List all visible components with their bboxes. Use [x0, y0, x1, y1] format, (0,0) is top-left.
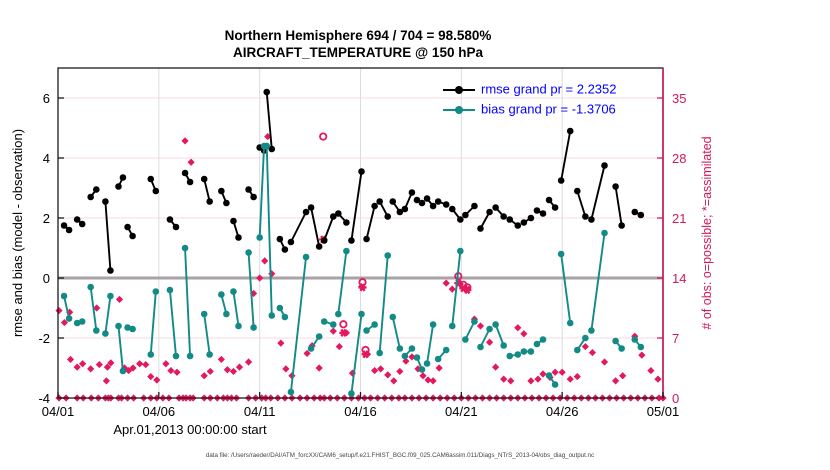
data-point: [268, 312, 275, 319]
x-ticklabel: 04/01: [42, 404, 75, 419]
data-point: [303, 254, 310, 261]
plot-title-line1: Northern Hemisphere 694 / 704 = 98.580%: [225, 28, 492, 43]
data-point: [308, 345, 315, 352]
data-point: [567, 128, 574, 135]
footer-datafile: data file: /Users/raeder/DAI/ATM_forcXX/…: [206, 452, 594, 459]
data-point: [546, 197, 553, 204]
data-point: [330, 321, 337, 328]
data-point: [567, 320, 574, 327]
data-point: [384, 213, 391, 220]
data-point: [256, 234, 263, 241]
data-point: [343, 219, 350, 226]
x-ticklabel: 04/11: [244, 404, 276, 419]
data-point: [173, 353, 180, 360]
data-point: [129, 326, 136, 333]
x-ticklabel: 04/26: [546, 404, 579, 419]
data-point: [471, 318, 478, 325]
legend-label: rmse grand pr = 2.2352: [481, 81, 617, 96]
data-point: [402, 353, 409, 360]
data-point: [129, 233, 136, 240]
data-point: [515, 222, 522, 229]
data-point: [87, 194, 94, 201]
data-point: [173, 224, 180, 231]
data-point: [316, 333, 323, 340]
x-axis-label: Apr.01,2013 00:00:00 start: [113, 422, 267, 437]
data-point: [153, 188, 160, 195]
data-point: [424, 360, 431, 367]
data-point: [409, 189, 416, 196]
data-point: [235, 234, 242, 241]
data-point: [443, 201, 450, 208]
data-point: [230, 218, 237, 225]
data-point: [435, 356, 442, 363]
data-point: [540, 210, 547, 217]
data-point: [230, 288, 237, 295]
data-point: [588, 216, 595, 223]
data-point: [534, 207, 541, 214]
data-point: [631, 209, 638, 216]
data-point: [462, 212, 469, 219]
data-point: [500, 342, 507, 349]
data-point: [471, 203, 478, 210]
data-point: [376, 350, 383, 357]
data-point: [187, 353, 194, 360]
data-point: [223, 200, 230, 207]
data-point: [397, 345, 404, 352]
data-point: [371, 321, 378, 328]
data-point: [506, 353, 513, 360]
data-point: [250, 194, 257, 201]
y-ticklabel-left: 6: [43, 91, 50, 106]
data-point: [277, 236, 284, 243]
data-point: [419, 200, 426, 207]
data-point: [430, 321, 437, 328]
data-point: [402, 206, 409, 213]
data-point: [358, 168, 365, 175]
data-point: [288, 389, 295, 396]
y-ticklabel-right: 28: [672, 151, 686, 166]
data-point: [263, 89, 270, 96]
data-point: [182, 170, 189, 177]
data-point: [618, 222, 625, 229]
data-point: [457, 216, 464, 223]
data-point: [245, 186, 252, 193]
data-point: [120, 368, 127, 375]
data-point: [61, 293, 68, 300]
data-point: [449, 323, 456, 330]
data-point: [348, 237, 355, 244]
data-point: [477, 225, 484, 232]
data-point: [419, 366, 426, 373]
data-point: [335, 210, 342, 217]
data-point: [223, 311, 230, 318]
y-ticklabel-right: 14: [672, 271, 686, 286]
data-point: [93, 327, 100, 334]
x-ticklabel: 05/01: [647, 404, 680, 419]
y-ticklabel-right: 21: [672, 211, 686, 226]
data-point: [321, 318, 328, 325]
data-point: [528, 348, 535, 355]
data-point: [588, 327, 595, 334]
data-point: [492, 204, 499, 211]
data-point: [574, 347, 581, 354]
y-ticklabel-left: 4: [43, 151, 50, 166]
data-point: [384, 252, 391, 259]
data-point: [376, 198, 383, 205]
data-point: [552, 204, 559, 211]
data-point: [206, 351, 213, 358]
data-point: [124, 224, 131, 231]
data-point: [182, 245, 189, 252]
data-point: [66, 227, 73, 234]
data-point: [618, 345, 625, 352]
data-point: [115, 183, 122, 190]
data-point: [87, 284, 94, 291]
data-point: [546, 372, 553, 379]
data-point: [107, 293, 114, 300]
data-point: [308, 204, 315, 211]
data-point: [201, 311, 208, 318]
y-ticklabel-left: 2: [43, 211, 50, 226]
data-point: [506, 216, 513, 223]
data-point: [631, 336, 638, 343]
data-point: [500, 213, 507, 220]
data-point: [167, 216, 174, 223]
data-point: [282, 314, 289, 321]
data-point: [250, 324, 257, 331]
y-ticklabel-left: 0: [43, 271, 50, 286]
data-point: [515, 351, 522, 358]
data-point: [79, 318, 86, 325]
data-point: [462, 336, 469, 343]
data-point: [534, 341, 541, 348]
data-point: [582, 335, 589, 342]
data-point: [167, 287, 174, 294]
data-point: [492, 321, 499, 328]
data-point: [102, 330, 109, 337]
data-point: [282, 246, 289, 253]
data-point: [612, 338, 619, 345]
y-ticklabel-right: 35: [672, 91, 686, 106]
data-point: [245, 249, 252, 256]
data-point: [638, 212, 645, 219]
data-point: [218, 188, 225, 195]
x-ticklabel: 04/16: [344, 404, 377, 419]
data-point: [321, 237, 328, 244]
data-point: [424, 195, 431, 202]
data-point: [277, 305, 284, 312]
data-point: [115, 323, 122, 330]
data-point: [601, 162, 608, 169]
data-point: [343, 248, 350, 255]
data-point: [552, 381, 559, 388]
data-point: [102, 198, 109, 205]
data-point: [61, 222, 68, 229]
data-point: [363, 236, 370, 243]
data-point: [153, 288, 160, 295]
data-point: [601, 230, 608, 237]
data-point: [435, 198, 442, 205]
data-point: [348, 390, 355, 397]
data-point: [316, 243, 323, 250]
data-point: [363, 327, 370, 334]
y-axis-label-left: rmse and bias (model - observation): [10, 129, 25, 337]
data-point: [558, 251, 565, 258]
data-point: [206, 198, 213, 205]
data-point: [371, 203, 378, 210]
data-point: [107, 267, 114, 274]
data-point: [389, 314, 396, 321]
data-point: [74, 216, 81, 223]
data-point: [528, 215, 535, 222]
x-ticklabel: 04/06: [143, 404, 176, 419]
data-point: [574, 188, 581, 195]
data-point: [288, 239, 295, 246]
data-point: [66, 315, 73, 322]
data-point: [486, 326, 493, 333]
data-point: [263, 143, 270, 150]
data-point: [358, 311, 365, 318]
legend-marker: [455, 86, 463, 94]
data-point: [449, 206, 456, 213]
data-point: [147, 176, 154, 183]
data-point: [409, 345, 416, 352]
data-point: [335, 311, 342, 318]
plot-title-line2: AIRCRAFT_TEMPERATURE @ 150 hPa: [233, 45, 483, 60]
data-point: [558, 177, 565, 184]
data-point: [612, 183, 619, 190]
data-point: [443, 347, 450, 354]
y-axis-label-right: # of obs: o=possible; *=assimilated: [700, 136, 714, 329]
x-ticklabel: 04/21: [445, 404, 478, 419]
data-point: [389, 198, 396, 205]
data-point: [582, 213, 589, 220]
data-point: [477, 344, 484, 351]
data-point: [430, 203, 437, 210]
data-point: [521, 348, 528, 355]
data-point: [147, 351, 154, 358]
data-point: [540, 336, 547, 343]
data-point: [235, 323, 242, 330]
data-point: [486, 209, 493, 216]
y-ticklabel-left: -2: [38, 331, 50, 346]
data-point: [187, 179, 194, 186]
data-point: [79, 221, 86, 228]
data-point: [414, 354, 421, 361]
data-point: [218, 291, 225, 298]
data-point: [521, 219, 528, 226]
y-ticklabel-right: 7: [672, 331, 679, 346]
data-point: [457, 248, 464, 255]
legend-marker: [455, 106, 463, 114]
legend-label: bias grand pr = -1.3706: [481, 101, 616, 116]
data-point: [303, 209, 310, 216]
data-point: [120, 174, 127, 181]
data-point: [93, 186, 100, 193]
data-point: [201, 176, 208, 183]
data-point: [638, 344, 645, 351]
observation-diagnostics-plot: -4-20246071421283504/0104/0604/1104/1604…: [0, 0, 830, 470]
